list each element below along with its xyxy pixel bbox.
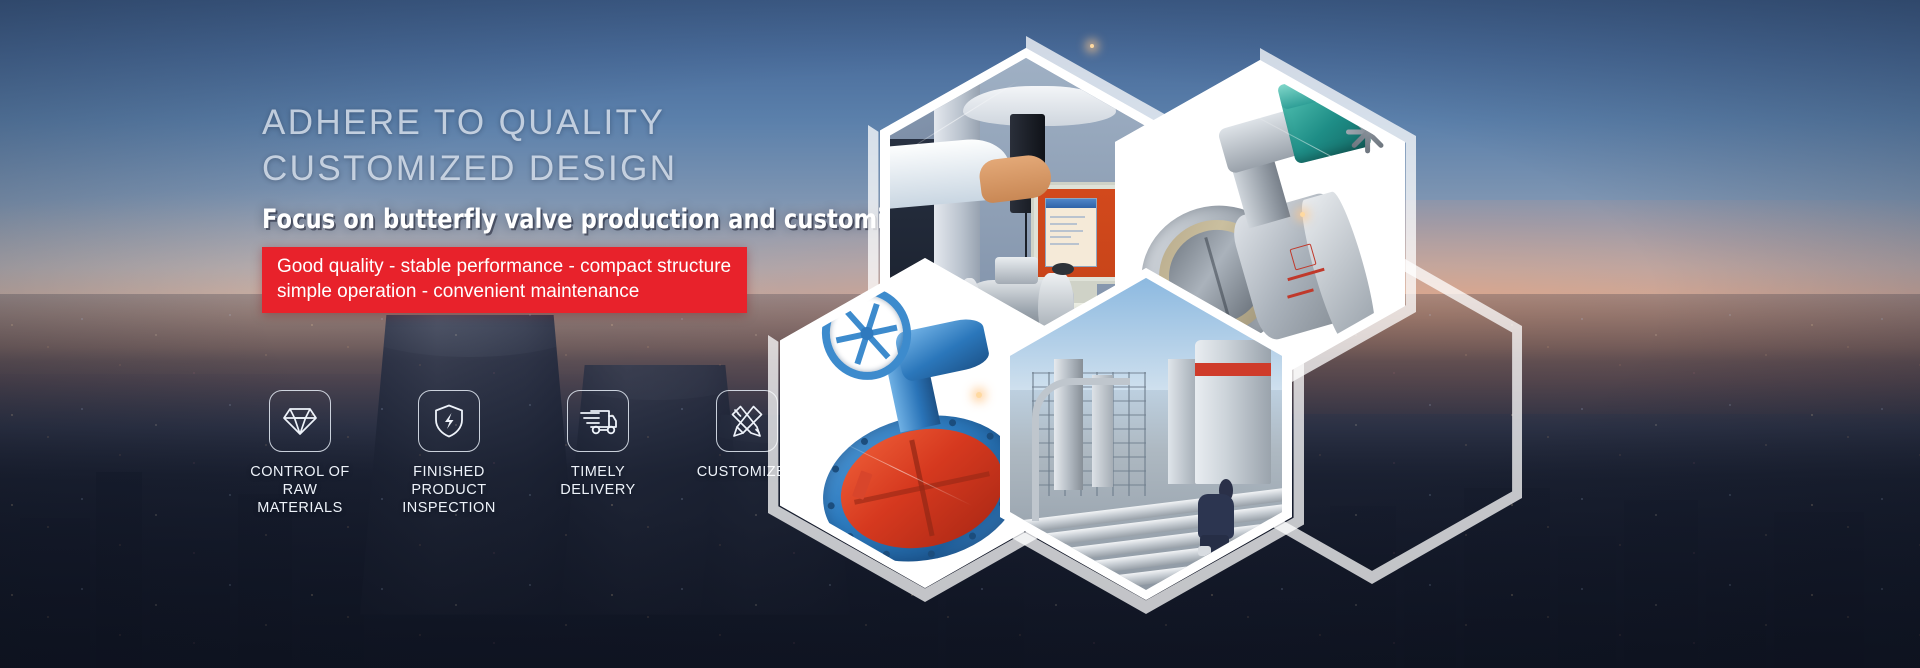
feature-item-finished-product-inspection[interactable]: FINISHED PRODUCT INSPECTION xyxy=(399,390,499,517)
benefits-line-2: simple operation - convenient maintenanc… xyxy=(277,279,731,304)
feature-label-line-2: DELIVERY xyxy=(560,481,635,499)
feature-list: CONTROL OF RAW MATERIALS FINISHED PRODUC… xyxy=(250,390,797,517)
diamond-icon xyxy=(269,390,331,452)
shield-bolt-icon xyxy=(418,390,480,452)
feature-label-line-2: PRODUCT xyxy=(402,481,496,499)
promo-banner: ADHERE TO QUALITY CUSTOMIZED DESIGN Focu… xyxy=(0,0,1920,668)
feature-label: CONTROL OF RAW MATERIALS xyxy=(250,463,350,517)
delivery-truck-icon xyxy=(567,390,629,452)
feature-item-timely-delivery[interactable]: TIMELY DELIVERY xyxy=(548,390,648,517)
feature-label-line-1: CONTROL OF xyxy=(250,463,350,481)
feature-label-line-1: TIMELY xyxy=(560,463,635,481)
headline-line-1: ADHERE TO QUALITY xyxy=(262,103,665,142)
hexagon-photo-cluster xyxy=(760,0,1920,668)
feature-label-line-2: RAW MATERIALS xyxy=(250,481,350,517)
benefits-line-1: Good quality - stable performance - comp… xyxy=(277,256,731,277)
sparkle-dot xyxy=(1300,212,1305,217)
benefits-bar: Good quality - stable performance - comp… xyxy=(262,247,747,313)
sparkle-dot xyxy=(1090,44,1094,48)
feature-label-line-1: FINISHED xyxy=(402,463,496,481)
sparkle-dot xyxy=(976,392,982,398)
feature-item-raw-material-control[interactable]: CONTROL OF RAW MATERIALS xyxy=(250,390,350,517)
feature-label: TIMELY DELIVERY xyxy=(560,463,635,499)
feature-label-line-3: INSPECTION xyxy=(402,499,496,517)
feature-label: FINISHED PRODUCT INSPECTION xyxy=(402,463,496,517)
